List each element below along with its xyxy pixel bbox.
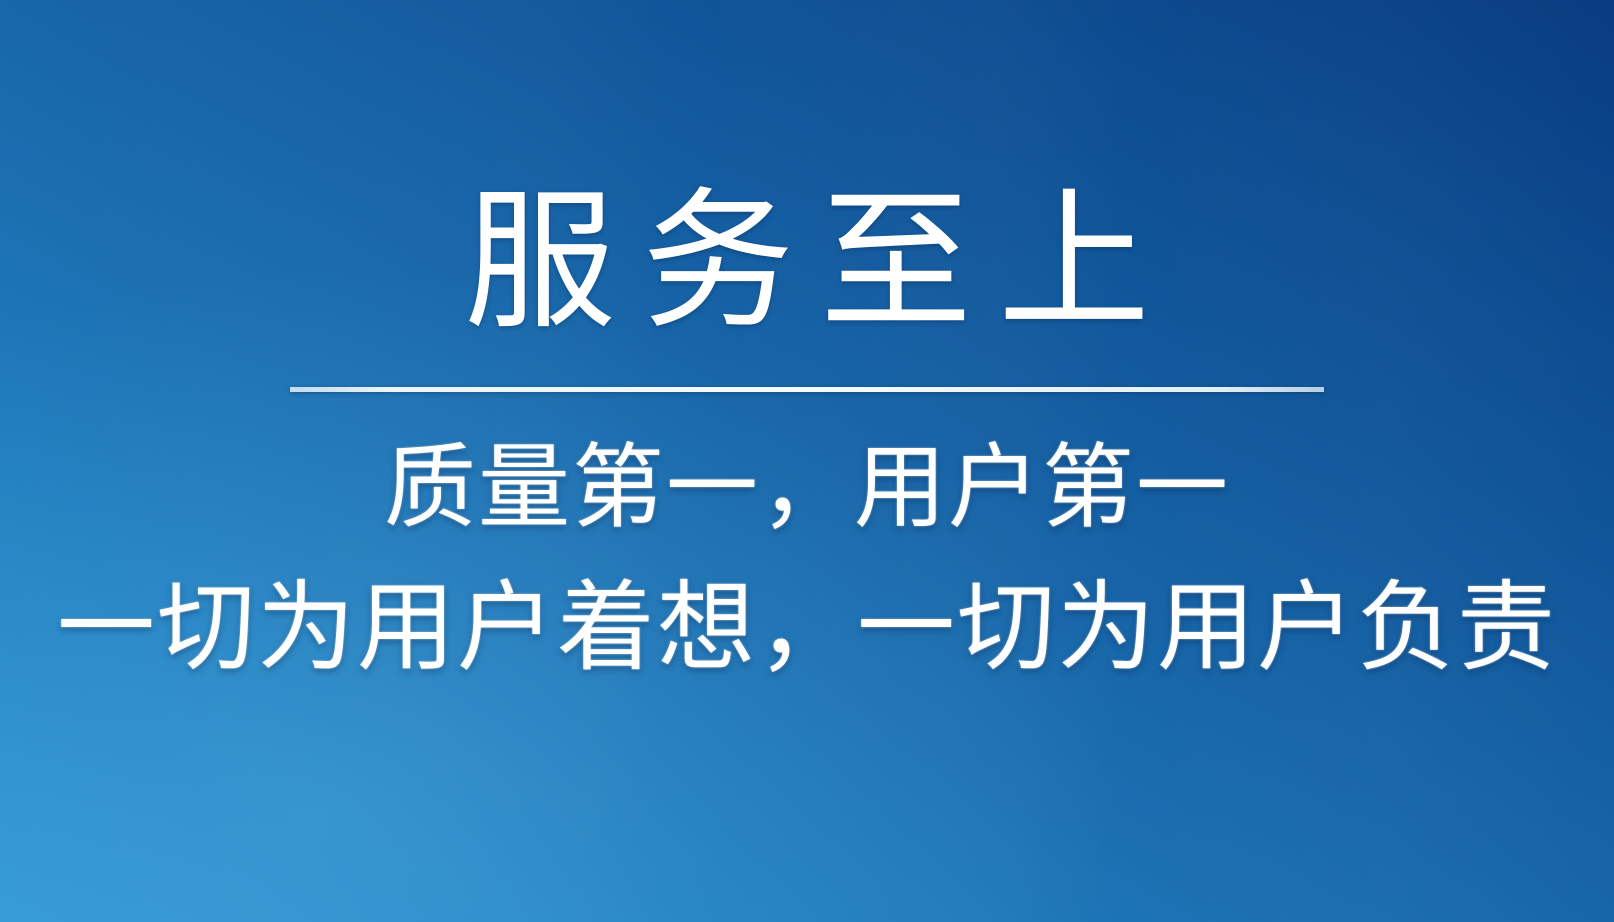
horizontal-divider bbox=[290, 387, 1324, 392]
service-slogan-banner: 服务至上 质量第一，用户第一 一切为用户着想，一切为用户负责 bbox=[0, 0, 1614, 922]
subtitle-block: 质量第一，用户第一 一切为用户着想，一切为用户负责 bbox=[57, 426, 1557, 694]
subtitle-line-2: 一切为用户着想，一切为用户负责 bbox=[57, 561, 1557, 694]
subtitle-line-1: 质量第一，用户第一 bbox=[384, 426, 1230, 551]
page-title: 服务至上 bbox=[438, 182, 1176, 343]
banner-content: 服务至上 质量第一，用户第一 一切为用户着想，一切为用户负责 bbox=[0, 0, 1614, 922]
divider-container bbox=[290, 387, 1324, 392]
